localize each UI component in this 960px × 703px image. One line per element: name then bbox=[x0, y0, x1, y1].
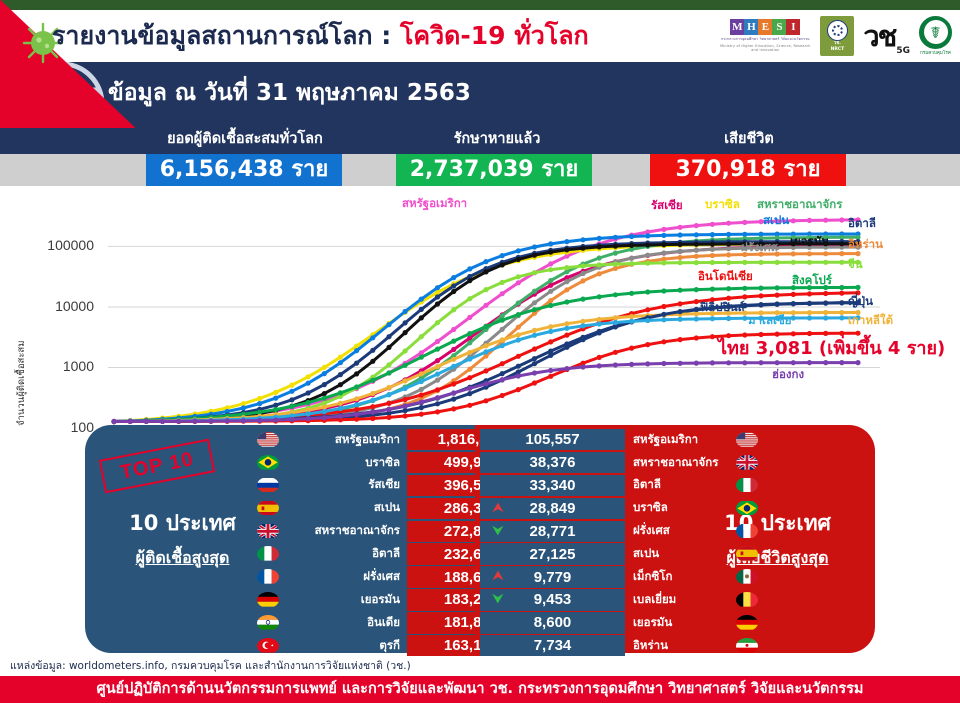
flag-ir-icon bbox=[736, 638, 758, 654]
page-subtitle: ข้อมูล ณ วันที่ 31 พฤษภาคม 2563 bbox=[108, 72, 471, 114]
country-name: สเปน bbox=[283, 499, 407, 517]
country-flag bbox=[732, 638, 762, 654]
mhesi-caption-en: Ministry of Higher Education, Science, R… bbox=[719, 44, 811, 54]
country-name: รัสเซีย bbox=[283, 476, 407, 494]
series-label-2: รัสเซีย bbox=[651, 197, 683, 215]
country-name: อิหร่าน bbox=[625, 637, 732, 655]
deaths-value: 33,340 bbox=[530, 477, 576, 494]
flag-mx-icon bbox=[736, 569, 758, 585]
flag-de-icon bbox=[736, 615, 758, 631]
deaths-value: 28,849 bbox=[530, 500, 576, 517]
country-name: สเปน bbox=[625, 545, 732, 563]
country-flag bbox=[732, 615, 762, 631]
thailand-annotation: ไทย 3,081 (เพิ่มขึ้น 4 ราย) bbox=[718, 333, 945, 362]
mhesi-letter-i: I bbox=[786, 19, 800, 35]
country-name: บราซิล bbox=[625, 499, 732, 517]
country-flag bbox=[732, 455, 762, 471]
table-row: ⮟28,771ฝรั่งเศส bbox=[480, 521, 762, 542]
footer-text: ศูนย์ปฏิบัติการด้านนวัตกรรมการแพทย์ และก… bbox=[0, 676, 960, 703]
country-flag bbox=[253, 455, 283, 471]
country-name: เม็กซิโก bbox=[625, 568, 732, 586]
table-row: 105,557สหรัฐอเมริกา bbox=[480, 429, 762, 450]
stat-value-deaths: 370,918 ราย bbox=[650, 154, 846, 186]
table-row: 8,600เยอรมัน bbox=[480, 612, 762, 633]
country-flag bbox=[732, 592, 762, 608]
mhesi-caption-th: กระทรวงการอุดมศึกษา วิทยาศาสตร์ วิจัยและ… bbox=[719, 37, 811, 42]
stat-label-confirmed: ยอดผู้ติดเชื้อสะสมทั่วโลก bbox=[120, 124, 370, 154]
table-row: 27,125สเปน bbox=[480, 543, 762, 564]
deaths-value: 9,453 bbox=[534, 591, 572, 608]
series-label-13: เกาหลีใต้ bbox=[848, 312, 893, 330]
series-label-1: บราซิล bbox=[705, 196, 740, 214]
mhesi-letter-e: E bbox=[758, 19, 772, 35]
flag-gb-icon bbox=[736, 455, 758, 471]
series-label-10: อินโดนีเซีย bbox=[698, 268, 753, 286]
trend-up-icon: ⮝ bbox=[492, 501, 504, 516]
moph-caption: กรมควบคุมโรค bbox=[920, 50, 951, 57]
page-title-highlight: โควิด-19 ทั่วโลก bbox=[400, 21, 589, 50]
flag-ru-icon bbox=[257, 477, 279, 493]
flag-br-icon bbox=[736, 500, 758, 516]
page-title-prefix: รายงานข้อมูลสถานการณ์โลก : bbox=[52, 21, 400, 50]
series-label-12: ญี่ปุ่น bbox=[848, 293, 873, 311]
deaths-value: 7,734 bbox=[534, 637, 572, 654]
country-flag bbox=[253, 615, 283, 631]
infographic-page: รายงานข้อมูลสถานการณ์โลก : โควิด-19 ทั่ว… bbox=[0, 0, 960, 703]
flag-de-icon bbox=[257, 592, 279, 608]
deaths-cell: 27,125 bbox=[480, 543, 625, 564]
country-name: เยอรมัน bbox=[625, 614, 732, 632]
cases-caption: 10 ประเทศ ผู้ติดเชื้อสูงสุด bbox=[95, 507, 270, 571]
flag-us-icon bbox=[736, 432, 758, 448]
series-label-7: เยอรมัน bbox=[790, 233, 829, 251]
chart-canvas bbox=[0, 186, 960, 434]
header-green-strip bbox=[0, 0, 960, 10]
country-name: ฝรั่งเศส bbox=[283, 568, 407, 586]
series-label-5: อิตาลี bbox=[848, 215, 876, 233]
country-name: อินเดีย bbox=[283, 614, 407, 632]
flag-be-icon bbox=[736, 592, 758, 608]
stat-label-recovered: รักษาหายแล้ว bbox=[372, 124, 622, 154]
series-label-14: ฟิลิปปินส์ bbox=[700, 299, 745, 317]
deaths-cell: 33,340 bbox=[480, 475, 625, 496]
deaths-value: 27,125 bbox=[530, 546, 576, 563]
flag-in-icon bbox=[257, 615, 279, 631]
country-flag bbox=[253, 432, 283, 448]
deaths-cell: 7,734 bbox=[480, 635, 625, 656]
flag-gb-icon bbox=[257, 523, 279, 539]
table-row: ⮝9,779เม็กซิโก bbox=[480, 566, 762, 587]
country-name: บราซิล bbox=[283, 454, 407, 472]
moph-logo: ☤ กรมควบคุมโรค bbox=[919, 16, 952, 57]
deaths-cell: ⮟9,453 bbox=[480, 589, 625, 610]
country-name: ตุรกี bbox=[283, 637, 407, 655]
deaths-cell: 38,376 bbox=[480, 452, 625, 473]
deaths-value: 28,771 bbox=[530, 523, 576, 540]
country-flag bbox=[253, 592, 283, 608]
source-note: แหล่งข้อมูล: worldometers.info, กรมควบคุ… bbox=[10, 657, 411, 674]
country-name: อิตาลี bbox=[625, 476, 732, 494]
deaths-cell: 8,600 bbox=[480, 612, 625, 633]
country-name: สหรัฐอเมริกา bbox=[283, 431, 407, 449]
country-flag bbox=[253, 500, 283, 516]
table-row: ⮟9,453เบลเยี่ยม bbox=[480, 589, 762, 610]
stat-value-recovered: 2,737,039 ราย bbox=[396, 154, 592, 186]
mhesi-logo: M H E S I กระทรวงการอุดมศึกษา วิทยาศาสตร… bbox=[719, 19, 811, 54]
logo-strip: M H E S I กระทรวงการอุดมศึกษา วิทยาศาสตร… bbox=[719, 12, 952, 60]
country-name: สหราชอาณาจักร bbox=[625, 454, 732, 472]
wch-5g-logo: วช 5G bbox=[863, 13, 910, 59]
series-label-8: อิหร่าน bbox=[848, 236, 883, 254]
flag-br-icon bbox=[257, 455, 279, 471]
mhesi-letter-s: S bbox=[772, 19, 786, 35]
flag-it-icon bbox=[736, 477, 758, 493]
deaths-value: 8,600 bbox=[534, 614, 572, 631]
table-row: 38,376สหราชอาณาจักร bbox=[480, 452, 762, 473]
country-flag bbox=[732, 432, 762, 448]
table-row: 33,340อิตาลี bbox=[480, 475, 762, 496]
wch-mark: วช bbox=[863, 13, 895, 59]
deaths-cell: ⮝28,849 bbox=[480, 498, 625, 519]
flag-tr-icon bbox=[257, 638, 279, 654]
flag-us-icon bbox=[257, 432, 279, 448]
country-name: สหรัฐอเมริกา bbox=[625, 431, 732, 449]
cases-caption-big: 10 ประเทศ bbox=[95, 507, 270, 540]
flag-fr-icon bbox=[736, 523, 758, 539]
country-flag bbox=[253, 638, 283, 654]
country-flag bbox=[732, 546, 762, 562]
country-name: ฝรั่งเศส bbox=[625, 522, 732, 540]
country-flag bbox=[253, 477, 283, 493]
deaths-cell: ⮟28,771 bbox=[480, 521, 625, 542]
series-label-11: สิงคโปร์ bbox=[792, 272, 832, 290]
top10-deaths-table: 105,557สหรัฐอเมริกา38,376สหราชอาณาจักร33… bbox=[480, 429, 762, 658]
trend-up-icon: ⮝ bbox=[492, 569, 504, 584]
trend-down-icon: ⮟ bbox=[492, 524, 504, 539]
nrct-emblem-icon bbox=[827, 20, 848, 41]
country-name: เยอรมัน bbox=[283, 591, 407, 609]
stat-label-deaths: เสียชีวิต bbox=[624, 124, 874, 154]
table-row: ⮝28,849บราซิล bbox=[480, 498, 762, 519]
deaths-value: 38,376 bbox=[530, 454, 576, 471]
chart-y-axis-title: จำนวนผู้ติดเชื้อสะสม bbox=[14, 341, 29, 427]
flag-es-icon bbox=[257, 500, 279, 516]
flag-it-icon bbox=[257, 546, 279, 562]
series-label-15: มาเลเซีย bbox=[748, 312, 792, 330]
country-flag bbox=[253, 546, 283, 562]
flag-fr-icon bbox=[257, 569, 279, 585]
nrct-line1: วช. bbox=[834, 41, 841, 46]
series-label-6: ฝรั่งเศส bbox=[741, 239, 778, 257]
trend-down-icon: ⮟ bbox=[492, 592, 504, 607]
cases-caption-small: ผู้ติดเชื้อสูงสุด bbox=[95, 546, 270, 571]
country-flag bbox=[732, 523, 762, 539]
series-label-0: สหรัฐอเมริกา bbox=[402, 195, 467, 213]
mhesi-letter-h: H bbox=[744, 19, 758, 35]
series-label-17: ฮ่องกง bbox=[772, 366, 804, 384]
series-label-3: สเปน bbox=[763, 212, 789, 230]
country-flag bbox=[732, 500, 762, 516]
country-name: อิตาลี bbox=[283, 545, 407, 563]
top10-panels: TOP 10 10 ประเทศ ผู้ติดเชื้อสูงสุด 10 ปร… bbox=[85, 425, 875, 653]
deaths-value: 105,557 bbox=[525, 431, 579, 448]
series-label-9: จีน bbox=[848, 256, 863, 274]
nrct-logo: วช.NRCT bbox=[820, 16, 854, 56]
country-name: เบลเยี่ยม bbox=[625, 591, 732, 609]
country-flag bbox=[732, 477, 762, 493]
table-row: 7,734อิหร่าน bbox=[480, 635, 762, 656]
page-title: รายงานข้อมูลสถานการณ์โลก : โควิด-19 ทั่ว… bbox=[52, 14, 589, 58]
mhesi-letter-m: M bbox=[730, 19, 744, 35]
series-label-4: สหราชอาณาจักร bbox=[757, 196, 842, 214]
deaths-value: 9,779 bbox=[534, 569, 572, 586]
country-flag bbox=[253, 569, 283, 585]
nrct-line2: NRCT bbox=[831, 47, 845, 52]
deaths-cell: 105,557 bbox=[480, 429, 625, 450]
deaths-cell: ⮝9,779 bbox=[480, 566, 625, 587]
country-flag bbox=[253, 523, 283, 539]
country-flag bbox=[732, 569, 762, 585]
country-name: สหราชอาณาจักร bbox=[283, 522, 407, 540]
moph-emblem-icon: ☤ bbox=[919, 16, 952, 49]
flag-es-icon bbox=[736, 546, 758, 562]
stat-value-confirmed: 6,156,438 ราย bbox=[146, 154, 342, 186]
covid-growth-chart: จำนวนผู้ติดเชื้อสะสม 100100010000100000 … bbox=[0, 186, 960, 434]
wch-5g-badge: 5G bbox=[896, 46, 910, 56]
